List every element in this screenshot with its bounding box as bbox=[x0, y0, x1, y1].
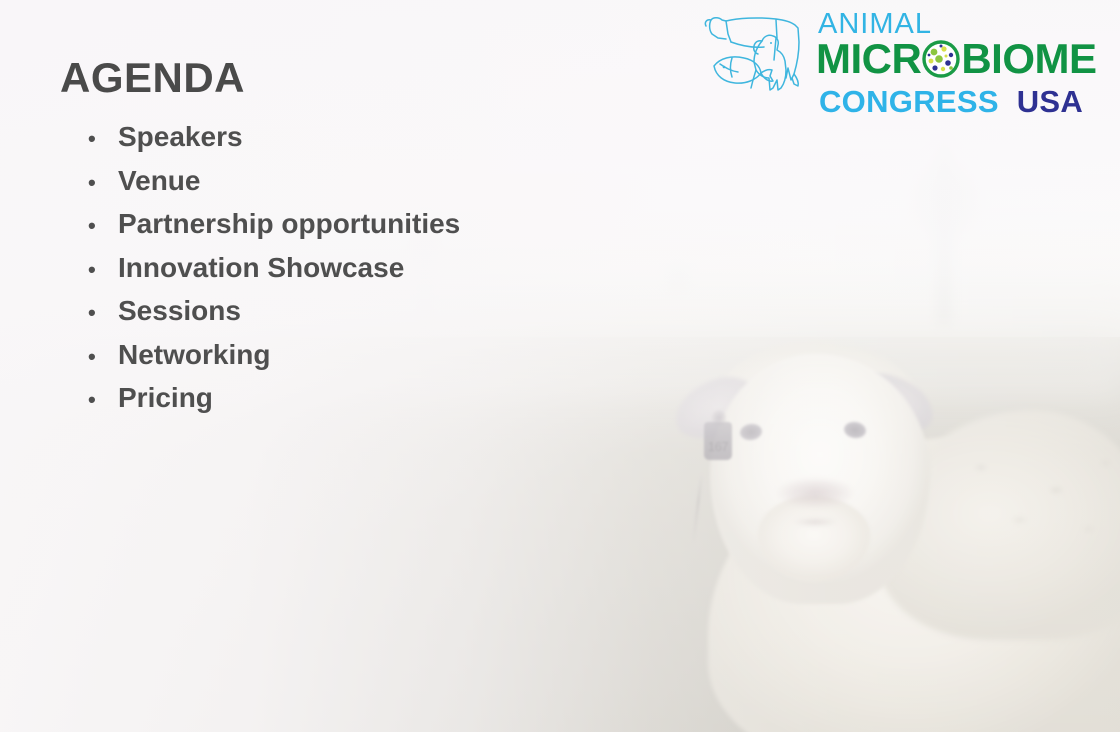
agenda-item-label: Networking bbox=[118, 341, 270, 369]
agenda-item-label: Innovation Showcase bbox=[118, 254, 404, 282]
presentation-slide: 167 AGENDA • Speakers • Venue • Partners… bbox=[0, 0, 1120, 732]
list-item: • Venue bbox=[88, 167, 460, 211]
logo-microbiome-suffix: BIOME bbox=[961, 38, 1096, 80]
list-item: • Pricing bbox=[88, 384, 460, 428]
bullet-icon: • bbox=[88, 259, 118, 281]
page-title: AGENDA bbox=[60, 57, 245, 99]
logo-usa-text: USA bbox=[1017, 84, 1083, 119]
bullet-icon: • bbox=[88, 302, 118, 324]
list-item: • Networking bbox=[88, 341, 460, 385]
logo-wordmark: ANIMAL MICR bbox=[816, 6, 1108, 118]
slide-content: AGENDA • Speakers • Venue • Partnership … bbox=[0, 0, 1120, 732]
bullet-icon: • bbox=[88, 172, 118, 194]
list-item: • Innovation Showcase bbox=[88, 254, 460, 298]
agenda-item-label: Venue bbox=[118, 167, 200, 195]
bullet-icon: • bbox=[88, 215, 118, 237]
animal-lineart-icon bbox=[698, 8, 820, 96]
bullet-icon: • bbox=[88, 346, 118, 368]
list-item: • Sessions bbox=[88, 297, 460, 341]
agenda-item-label: Sessions bbox=[118, 297, 241, 325]
agenda-item-label: Pricing bbox=[118, 384, 213, 412]
bullet-icon: • bbox=[88, 389, 118, 411]
agenda-item-label: Speakers bbox=[118, 123, 243, 151]
bullet-icon: • bbox=[88, 128, 118, 150]
logo-microbiome-prefix: MICR bbox=[816, 38, 921, 80]
agenda-item-label: Partnership opportunities bbox=[118, 210, 460, 238]
logo-congress-text: CONGRESS bbox=[819, 84, 999, 119]
animal-microbiome-congress-logo: ANIMAL MICR bbox=[698, 6, 1108, 118]
logo-line-congress-usa: CONGRESS USA bbox=[819, 86, 1083, 117]
list-item: • Partnership opportunities bbox=[88, 210, 460, 254]
agenda-list: • Speakers • Venue • Partnership opportu… bbox=[88, 123, 460, 428]
microbe-petri-dish-icon bbox=[922, 40, 960, 78]
logo-line-microbiome: MICR bbox=[816, 38, 1097, 80]
list-item: • Speakers bbox=[88, 123, 460, 167]
